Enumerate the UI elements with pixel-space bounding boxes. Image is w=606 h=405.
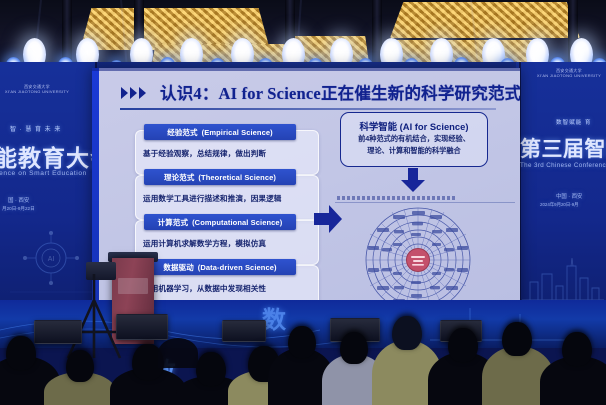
- paradigm-header-bar: 计算范式 (Computational Science): [144, 214, 296, 230]
- ceiling-gold-panel: [390, 2, 580, 38]
- presentation-slide: 认识4：AI for Science正在催生新的科学研究范式 经验范式 (Emp…: [92, 68, 520, 330]
- conclusion-title-cn: 科学智能: [360, 121, 398, 132]
- backdrop-right-dates: 2024年9月20日-9月: [540, 202, 579, 208]
- paradigm-header-cn: 经验范式: [167, 127, 197, 138]
- paradigm-header-bar: 经验范式 (Empirical Science): [144, 124, 296, 140]
- slide-top-rule: [92, 68, 520, 71]
- paradigm-header-bar: 数据驱动 (Data-driven Science): [144, 259, 296, 275]
- paradigm-header-en: (Theoretical Science): [198, 173, 276, 182]
- conclusion-title: 科学智能 (AI for Science): [341, 119, 487, 133]
- backdrop-left-dates: 月20日-9月22日: [2, 206, 35, 212]
- arrow-right-icon: [314, 204, 342, 234]
- stage-speaker: [34, 320, 82, 344]
- audience-member: [340, 332, 368, 364]
- backdrop-skyline-graphic: [520, 238, 606, 304]
- paradigm-header-bar: 理论范式 (Theoretical Science): [144, 169, 296, 185]
- audience-member: [196, 352, 226, 386]
- audience-member: [392, 316, 422, 350]
- diagram-caption-rule: [335, 202, 515, 203]
- conference-stage-photo: 西安交通大学 XI'AN JIAOTONG UNIVERSITY 智 · 慧 育…: [0, 0, 606, 405]
- paradigm-header-en: (Empirical Science): [202, 128, 273, 137]
- paradigm-body: 运用机器学习，从数据中发现相关性: [143, 283, 313, 294]
- backdrop-left-subtitle: erence on Smart Education: [0, 170, 87, 177]
- paradigm-header-en: (Data-driven Science): [198, 263, 277, 272]
- stage-speaker: [222, 320, 266, 342]
- audience-member: [448, 328, 478, 362]
- paradigm-header-en: (Computational Science): [192, 218, 282, 227]
- slide-title-rule: [120, 108, 496, 110]
- audience-member: [158, 338, 198, 368]
- backdrop-right-tagline: 数智赋能 育: [556, 118, 592, 126]
- paradigm-header-cn: 计算范式: [158, 217, 188, 228]
- slide-title: 认识4：AI for Science正在催生新的科学研究范式: [160, 80, 520, 104]
- backdrop-right-location: 中国 · 西安: [556, 192, 582, 200]
- paradigm-body: 基于经验观察，总结规律，做出判断: [143, 148, 313, 159]
- conclusion-body-line2: 理论、计算和智能的科学融合: [341, 146, 487, 156]
- ai-for-science-radial-wheel: [364, 206, 472, 314]
- audience-member: [66, 350, 94, 382]
- backdrop-left-logo: 西安交通大学 XI'AN JIAOTONG UNIVERSITY: [2, 84, 72, 95]
- backdrop-right-title: 第三届智能教: [520, 133, 606, 163]
- backdrop-left-location: 国 · 西安: [8, 196, 29, 204]
- backdrop-left-tagline: 智 · 慧 育 未 来: [10, 124, 61, 133]
- paradigm-header-cn: 数据驱动: [163, 262, 193, 273]
- arrow-down-icon: [400, 168, 426, 192]
- backdrop-right-logo: 西安交通大学 XI'AN JIAOTONG UNIVERSITY: [532, 68, 606, 79]
- stage-speaker: [116, 314, 168, 340]
- diagram-caption-text: [337, 196, 457, 200]
- audience-member: [288, 326, 316, 358]
- backdrop-right-subtitle: The 3rd Chinese Conference o: [520, 162, 606, 169]
- svg-text:AI: AI: [48, 256, 55, 263]
- paradigm-header-cn: 理论范式: [164, 172, 194, 183]
- conclusion-body-line1: 前4种范式的有机结合，实现经验、: [341, 134, 487, 144]
- audience-member: [562, 332, 592, 366]
- paradigm-body: 运用计算机求解数学方程，模拟仿真: [143, 238, 313, 249]
- double-chevron-right-icon: [120, 86, 152, 100]
- conclusion-title-en: (AI for Science): [400, 121, 469, 132]
- paradigm-body: 运用数学工具进行描述和推演，因果逻辑: [143, 193, 313, 204]
- audience-member: [6, 336, 36, 370]
- conclusion-box-ai-for-science: 科学智能 (AI for Science) 前4种范式的有机结合，实现经验、 理…: [340, 112, 488, 167]
- audience-member: [502, 322, 532, 356]
